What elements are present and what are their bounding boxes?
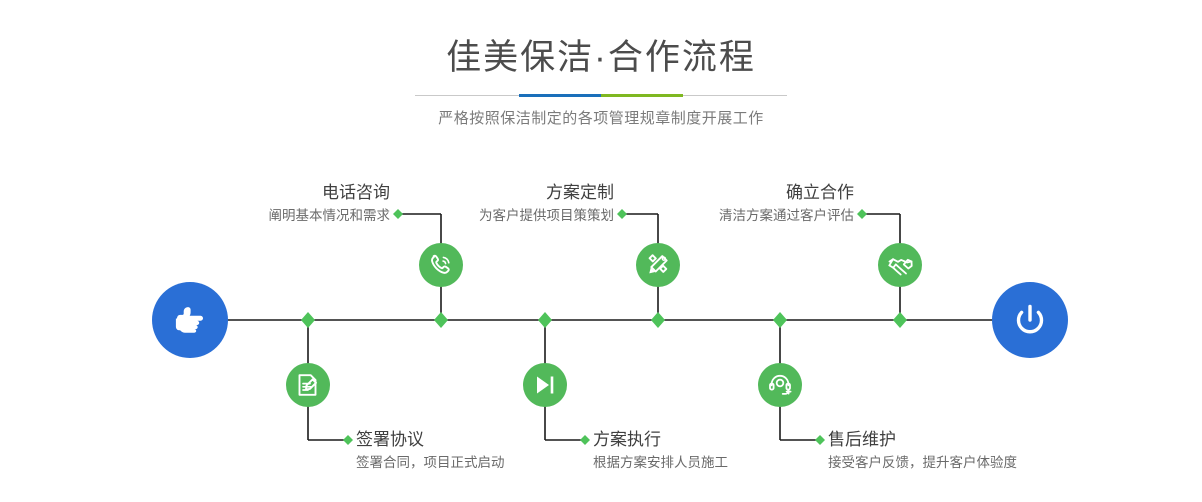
step-icon-phone-call[interactable] bbox=[419, 243, 463, 287]
flow-start-node[interactable] bbox=[152, 282, 228, 358]
step-label-above-1: 电话咨询 阐明基本情况和需求 bbox=[134, 182, 390, 226]
page-subtitle: 严格按照保洁制定的各项管理规章制度开展工作 bbox=[0, 109, 1202, 129]
step-icon-plan-design[interactable] bbox=[636, 243, 680, 287]
step-label-below-1: 签署协议 签署合同，项目正式启动 bbox=[356, 429, 505, 473]
step-title: 签署协议 bbox=[356, 429, 505, 451]
process-flow-infographic: 佳美保洁·合作流程 严格按照保洁制定的各项管理规章制度开展工作 bbox=[0, 0, 1202, 502]
flow-end-node[interactable] bbox=[992, 282, 1068, 358]
step-icon-after-sales[interactable] bbox=[758, 363, 802, 407]
step-desc: 阐明基本情况和需求 bbox=[134, 206, 390, 226]
step-icon-partnership[interactable] bbox=[878, 243, 922, 287]
handshake-icon bbox=[887, 252, 914, 279]
step-title: 电话咨询 bbox=[134, 182, 390, 204]
title-divider bbox=[415, 94, 787, 97]
step-title: 方案执行 bbox=[593, 429, 728, 451]
step-title: 方案定制 bbox=[400, 182, 614, 204]
step-icon-sign-agreement[interactable] bbox=[286, 363, 330, 407]
divider-blue-segment bbox=[519, 94, 601, 97]
step-icon-execute-plan[interactable] bbox=[523, 363, 567, 407]
phone-call-icon bbox=[428, 252, 454, 278]
pencil-ruler-icon bbox=[645, 252, 671, 278]
headset-support-icon bbox=[767, 372, 793, 398]
divider-green-segment bbox=[601, 94, 683, 97]
document-sign-icon bbox=[295, 372, 321, 398]
timeline-diagram: 电话咨询 阐明基本情况和需求 方案定制 为客户提供项目策策划 确立合作 清洁方案… bbox=[0, 150, 1202, 502]
label-diamond-markers bbox=[343, 209, 867, 445]
page-title: 佳美保洁·合作流程 bbox=[0, 38, 1202, 78]
play-execute-icon bbox=[532, 372, 558, 398]
step-label-below-2: 方案执行 根据方案安排人员施工 bbox=[593, 429, 728, 473]
power-icon bbox=[1008, 298, 1052, 342]
step-desc: 根据方案安排人员施工 bbox=[593, 453, 728, 473]
step-title: 确立合作 bbox=[640, 182, 854, 204]
step-desc: 签署合同，项目正式启动 bbox=[356, 453, 505, 473]
step-label-below-3: 售后维护 接受客户反馈，提升客户体验度 bbox=[828, 429, 1017, 473]
step-desc: 清洁方案通过客户评估 bbox=[640, 206, 854, 226]
step-title: 售后维护 bbox=[828, 429, 1017, 451]
step-label-above-2: 方案定制 为客户提供项目策策划 bbox=[400, 182, 614, 226]
header: 佳美保洁·合作流程 严格按照保洁制定的各项管理规章制度开展工作 bbox=[0, 0, 1202, 129]
step-desc: 接受客户反馈，提升客户体验度 bbox=[828, 453, 1017, 473]
pointing-hand-icon bbox=[168, 298, 212, 342]
step-desc: 为客户提供项目策策划 bbox=[400, 206, 614, 226]
step-label-above-3: 确立合作 清洁方案通过客户评估 bbox=[640, 182, 854, 226]
